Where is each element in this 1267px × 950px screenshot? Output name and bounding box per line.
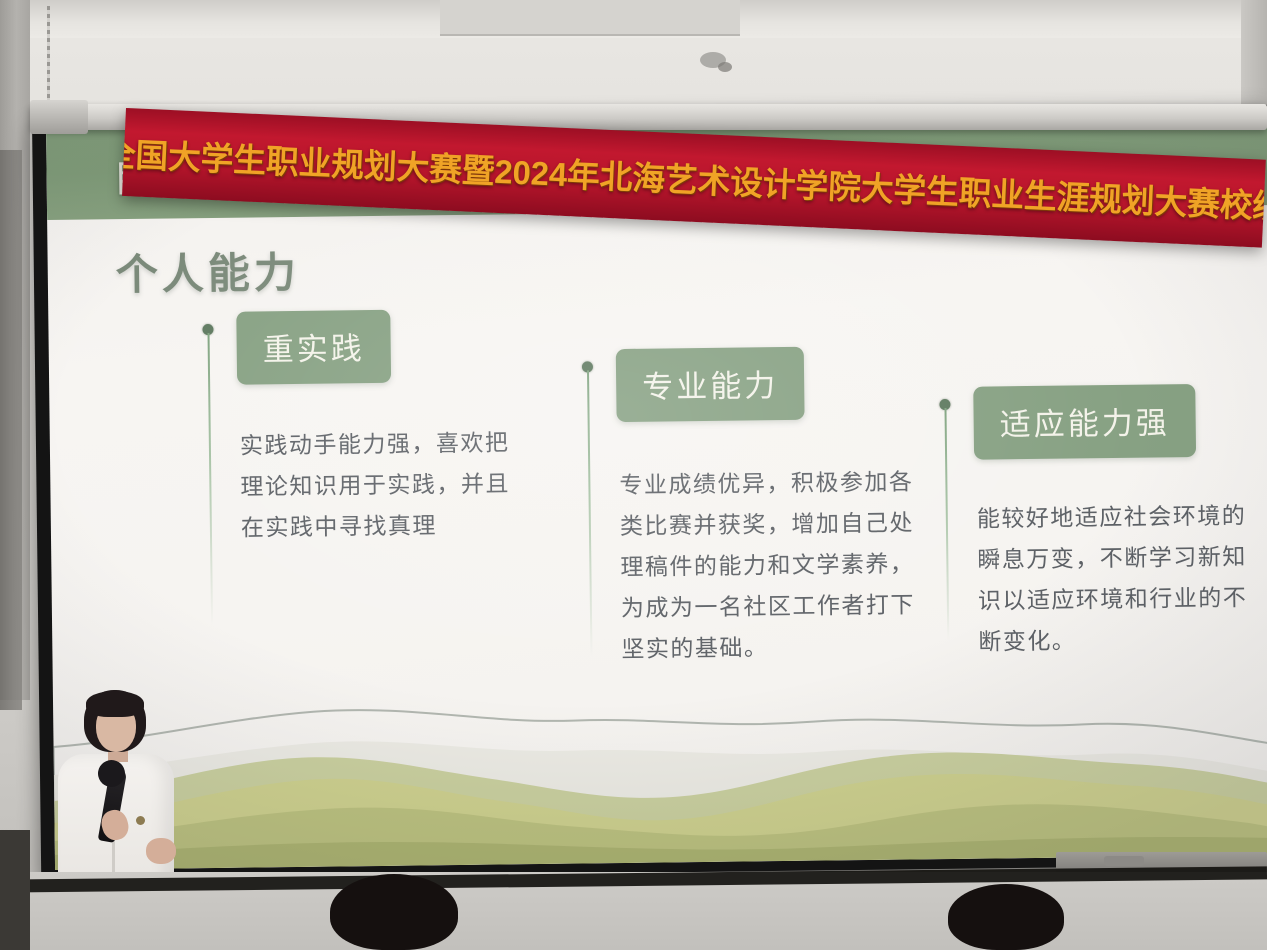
wall-left-shadow [0,150,22,710]
floor-corner-shadow [0,830,30,950]
card-3-body-text: 能较好地适应社会环境的瞬息万变，不断学习新知识以适应环境和行业的不断变化。 [977,495,1251,662]
presenter-badge-icon [136,816,145,825]
card-3-pill-label[interactable]: 适应能力强 [973,384,1196,460]
timeline-line [208,333,214,625]
slide-body: 个人能力 重实践 实践动手能力强，喜欢把理论知识用于实践，并且在实践中寻找真理 [47,205,1267,870]
screen-pull-chain [47,6,50,106]
card-2-pill-label[interactable]: 专业能力 [616,347,805,422]
photo-stage: 自我认知 职业认知 计划与实施路径 不足之处 个人能力 [0,0,1267,950]
card-1-pill-label[interactable]: 重实践 [236,310,391,385]
card-1-body-text: 实践动手能力强，喜欢把理论知识用于实践，并且在实践中寻找真理 [240,422,529,549]
timeline-line [944,408,949,640]
capability-card-2: 专业能力 专业成绩优异，积极参加各类比赛并获奖，增加自己处理稿件的能力和文学素养… [582,357,926,721]
presenter-hair-fringe [86,691,144,717]
audience-head-right [948,884,1064,950]
ceiling-seam [440,0,740,36]
ceiling-fixture-shadow-icon [718,62,732,72]
capability-card-3: 适应能力强 能较好地适应社会环境的瞬息万变，不断学习新知识以适应环境和行业的不断… [939,395,1263,729]
timeline-line [587,370,592,656]
desk-object [1104,856,1144,866]
card-2-body-text: 专业成绩优异，积极参加各类比赛并获奖，增加自己处理稿件的能力和文学素养，为成为一… [619,461,921,670]
projector-screen-roller-cap [30,100,88,134]
slide-title: 个人能力 [115,239,300,302]
audience-head-left [330,874,458,950]
capability-card-1: 重实践 实践动手能力强，喜欢把理论知识用于实践，并且在实践中寻找真理 [202,320,536,674]
presenter-hand-right [146,838,176,864]
